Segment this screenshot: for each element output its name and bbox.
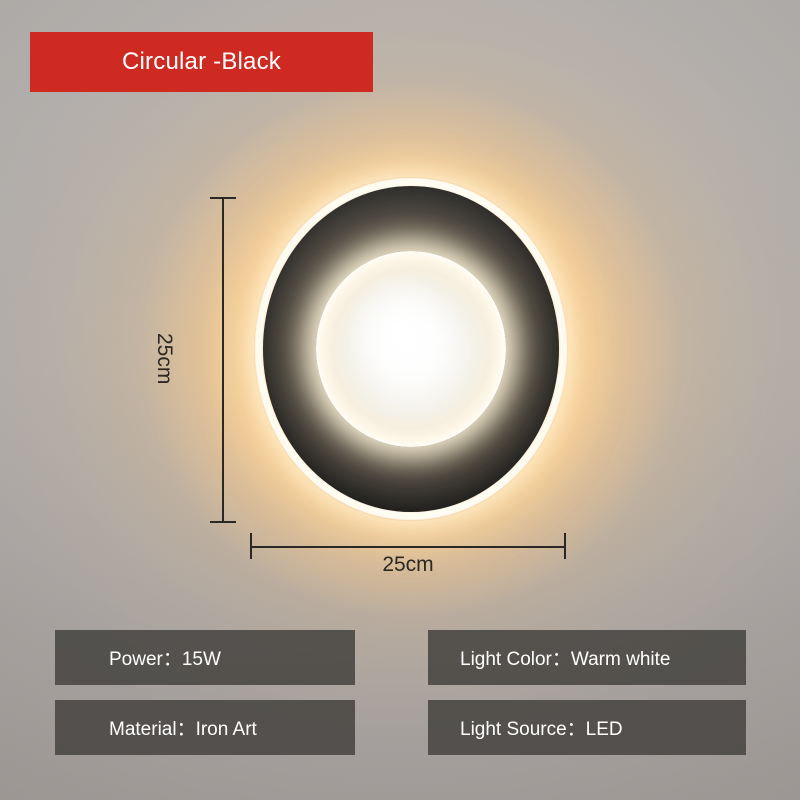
title-banner: Circular -Black: [30, 32, 373, 92]
dimension-vertical-line: [222, 197, 224, 523]
spec-box-light-source: Light Source：LED: [428, 700, 746, 755]
spec-box-power: Power：15W: [55, 630, 355, 685]
spec-material-label: Material：Iron Art: [109, 714, 257, 741]
dimension-vertical-tick-top: [210, 197, 236, 199]
spec-power-label: Power：15W: [109, 644, 221, 671]
circular-wall-lamp: [254, 177, 568, 521]
title-banner-label: Circular -Black: [122, 48, 281, 76]
lamp-center-diffuser: [316, 251, 506, 447]
dimension-width-label: 25cm: [250, 553, 566, 577]
spec-light-color-label: Light Color：Warm white: [460, 644, 670, 671]
dimension-vertical-tick-bottom: [210, 521, 236, 523]
spec-box-material: Material：Iron Art: [55, 700, 355, 755]
product-image-scene: Circular -Black 25cm 25cm Power：15W Mate…: [0, 0, 800, 800]
dimension-horizontal-line: [250, 546, 566, 548]
lamp-center-highlight: [345, 274, 455, 384]
spec-light-source-label: Light Source：LED: [460, 714, 623, 741]
spec-box-light-color: Light Color：Warm white: [428, 630, 746, 685]
dimension-height-label: 25cm: [152, 333, 176, 384]
